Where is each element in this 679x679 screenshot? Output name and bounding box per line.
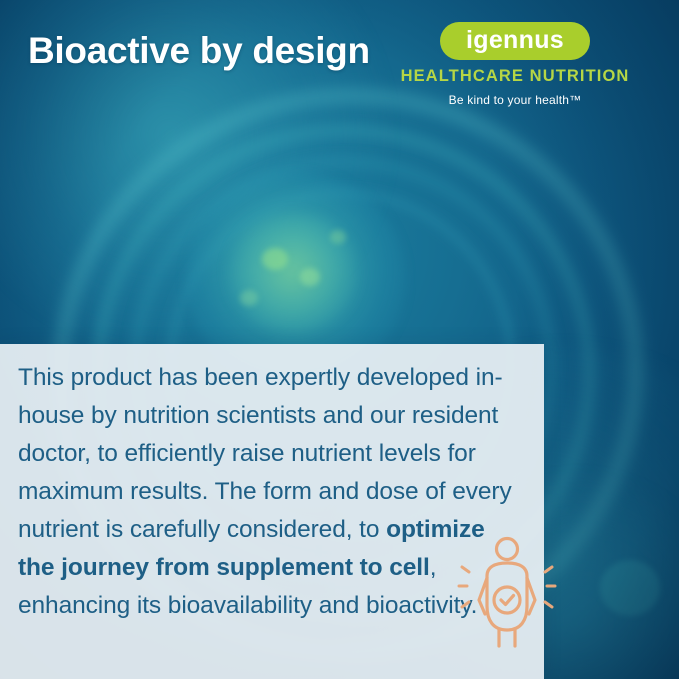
brand-subtitle: HEALTHCARE NUTRITION	[365, 67, 665, 86]
brand-name: igennus	[440, 22, 590, 60]
brand-logo: igennus HEALTHCARE NUTRITION Be kind to …	[365, 22, 665, 107]
person-absorption-icon	[455, 534, 559, 654]
brand-tagline: Be kind to your health™	[365, 93, 665, 107]
body-paragraph: This product has been expertly developed…	[18, 359, 518, 625]
page-title: Bioactive by design	[28, 30, 370, 72]
poster-root: Bioactive by design igennus HEALTHCARE N…	[0, 0, 679, 679]
